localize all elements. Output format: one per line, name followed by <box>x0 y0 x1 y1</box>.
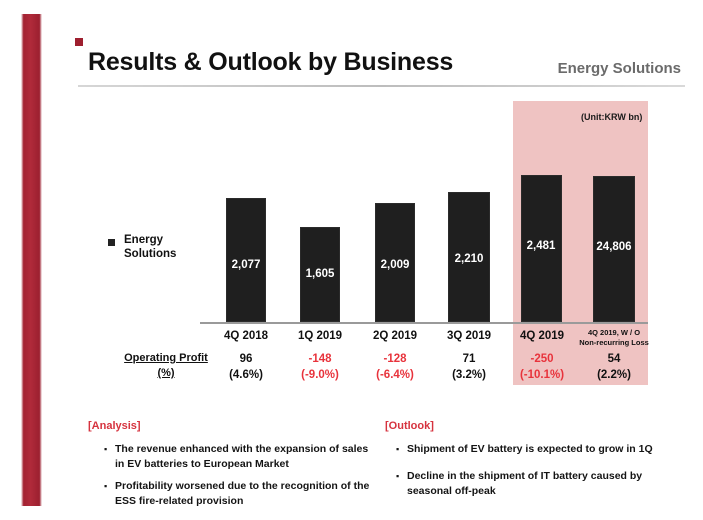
category-label-5-line1: 4Q 2019, W / O <box>574 328 654 338</box>
op-cell-1: -148 (-9.0%) <box>280 351 360 383</box>
outlook-item-1: Decline in the shipment of IT battery ca… <box>396 469 676 499</box>
category-label-5-line2: Non-recurring Loss <box>574 338 654 348</box>
unit-note: (Unit:KRW bn) <box>581 112 642 122</box>
op-pct-3: (3.2%) <box>429 367 509 383</box>
legend-label-line1: Energy <box>124 233 176 247</box>
op-cell-3: 71 (3.2%) <box>429 351 509 383</box>
category-label-0: 4Q 2018 <box>206 330 286 342</box>
analysis-item-1: Profitability worsened due to the recogn… <box>104 479 379 509</box>
op-pct-2: (-6.4%) <box>355 367 435 383</box>
op-cell-0: 96 (4.6%) <box>206 351 286 383</box>
op-value-4: -250 <box>502 351 582 367</box>
category-label-4: 4Q 2019 <box>502 330 582 342</box>
category-label-3: 3Q 2019 <box>429 330 509 342</box>
op-pct-0: (4.6%) <box>206 367 286 383</box>
bar-value-1: 1,605 <box>290 268 350 280</box>
bar-value-0: 2,077 <box>216 259 276 271</box>
op-value-3: 71 <box>429 351 509 367</box>
bar-value-4: 2,481 <box>511 240 571 252</box>
bar-value-3: 2,210 <box>439 253 499 265</box>
outlook-list: Shipment of EV battery is expected to gr… <box>396 442 676 506</box>
category-label-2: 2Q 2019 <box>355 330 435 342</box>
op-value-0: 96 <box>206 351 286 367</box>
legend-label: Energy Solutions <box>124 233 176 261</box>
bar-value-2: 2,009 <box>365 259 425 271</box>
analysis-list: The revenue enhanced with the expansion … <box>104 442 379 516</box>
category-label-1: 1Q 2019 <box>280 330 360 342</box>
op-value-1: -148 <box>280 351 360 367</box>
operating-profit-label-line1: Operating Profit <box>124 352 208 364</box>
op-pct-5: (2.2%) <box>574 367 654 383</box>
op-value-5: 54 <box>574 351 654 367</box>
op-cell-2: -128 (-6.4%) <box>355 351 435 383</box>
category-label-5: 4Q 2019, W / O Non-recurring Loss <box>574 328 654 348</box>
chart-baseline <box>200 322 648 324</box>
op-cell-5: 54 (2.2%) <box>574 351 654 383</box>
operating-profit-label-line2: (%) <box>157 367 174 379</box>
outlook-item-0: Shipment of EV battery is expected to gr… <box>396 442 676 457</box>
bar-chart: (Unit:KRW bn) Energy Solutions 2,077 1,6… <box>0 0 703 400</box>
bar-value-5: 24,806 <box>584 241 644 253</box>
op-pct-1: (-9.0%) <box>280 367 360 383</box>
op-value-2: -128 <box>355 351 435 367</box>
outlook-heading: [Outlook] <box>385 420 434 432</box>
legend-swatch-icon <box>108 239 115 246</box>
analysis-heading: [Analysis] <box>88 420 141 432</box>
operating-profit-label: Operating Profit (%) <box>116 351 216 381</box>
analysis-item-0: The revenue enhanced with the expansion … <box>104 442 379 472</box>
op-pct-4: (-10.1%) <box>502 367 582 383</box>
legend-label-line2: Solutions <box>124 247 176 261</box>
op-cell-4: -250 (-10.1%) <box>502 351 582 383</box>
